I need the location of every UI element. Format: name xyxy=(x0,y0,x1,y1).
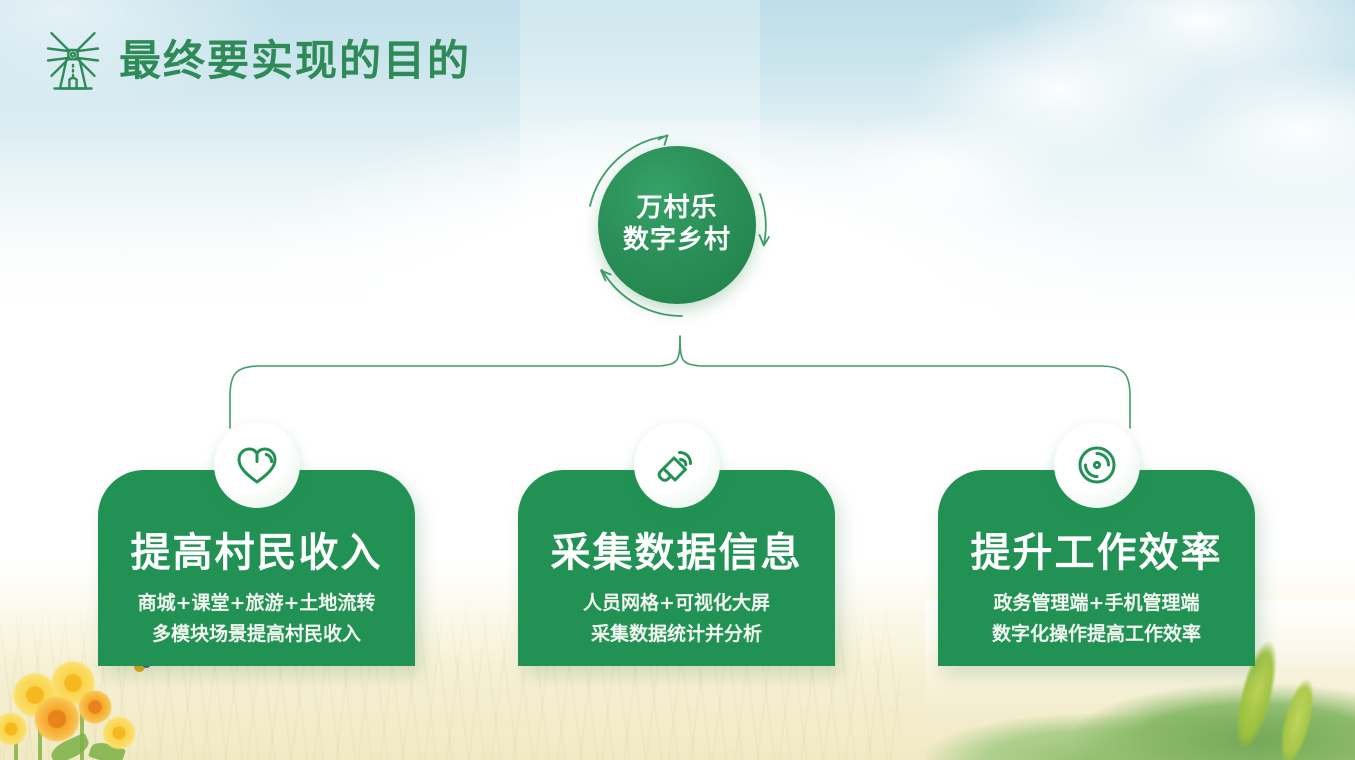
card-collect-data[interactable]: 采集数据信息 人员网格+可视化大屏 采集数据统计并分析 xyxy=(518,470,835,666)
card-subtitle-2b: 采集数据统计并分析 xyxy=(591,619,762,650)
card-subtitle-1a: 商城+课堂+旅游+土地流转 xyxy=(138,588,376,619)
card-improve-efficiency[interactable]: 提升工作效率 政务管理端+手机管理端 数字化操作提高工作效率 xyxy=(938,470,1255,666)
card-subtitle-2a: 人员网格+可视化大屏 xyxy=(583,588,770,619)
heart-icon xyxy=(234,443,280,487)
card-subtitle-1b: 多模块场景提高村民收入 xyxy=(152,619,361,650)
hub-circle: 万村乐 数字乡村 xyxy=(598,146,756,304)
card-title-3: 提升工作效率 xyxy=(971,520,1223,578)
slide-canvas: 最终要实现的目的 万村乐 数字乡村 xyxy=(0,0,1355,760)
card-badge-3 xyxy=(1054,422,1140,508)
card-title-1: 提高村民收入 xyxy=(131,520,383,578)
card-subtitle-3b: 数字化操作提高工作效率 xyxy=(992,619,1201,650)
card-badge-1 xyxy=(214,422,300,508)
card-subtitle-3a: 政务管理端+手机管理端 xyxy=(994,588,1200,619)
center-hub: 万村乐 数字乡村 xyxy=(598,146,756,304)
card-improve-income[interactable]: 提高村民收入 商城+课堂+旅游+土地流转 多模块场景提高村民收入 xyxy=(98,470,415,666)
hub-line-1: 万村乐 xyxy=(636,193,717,225)
windmill-icon xyxy=(45,30,101,92)
disc-icon xyxy=(1074,442,1120,488)
page-title-text: 最终要实现的目的 xyxy=(119,40,471,82)
card-title-2: 采集数据信息 xyxy=(551,520,803,578)
hub-line-2: 数字乡村 xyxy=(623,225,731,257)
megaphone-icon xyxy=(654,442,700,488)
card-badge-2 xyxy=(634,422,720,508)
page-title: 最终要实现的目的 xyxy=(45,30,471,92)
